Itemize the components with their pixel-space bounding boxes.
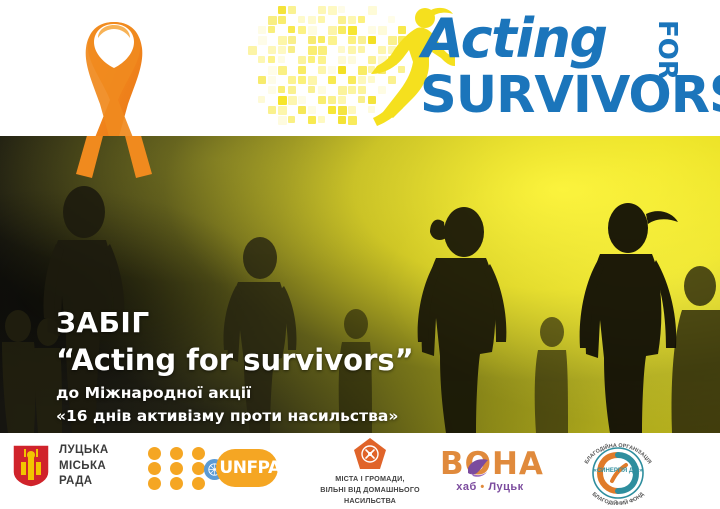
hero-photo: ЗАБІГ “Acting for survivors” до Міжнарод… bbox=[0, 136, 720, 433]
unfpa-label: UNFPA bbox=[213, 458, 280, 478]
logo-synergy-of-actions: БЛАГОДІЙНА ОРГАНІЗАЦІЯ БЛАГОДІЙНИЙ ФОНД … bbox=[572, 437, 664, 505]
lutsk-label: ЛУЦЬКА МІСЬКА РАДА bbox=[59, 443, 109, 490]
synergy-center-label: «СИНЕРГІЯ ДІЙ» bbox=[594, 466, 644, 474]
logo-vona-hub: ВОНА хаб • Луцьк bbox=[440, 449, 550, 493]
cities-label-line-3: НАСИЛЬСТВА bbox=[310, 496, 430, 507]
vona-label: ВОНА bbox=[440, 446, 544, 482]
event-subtitle-2: «16 днів активізму проти насильства» bbox=[56, 407, 656, 426]
footer-logos: ЛУЦЬКА МІСЬКА РАДА UNFPA bbox=[0, 433, 720, 509]
lutsk-label-line-3: РАДА bbox=[59, 474, 109, 490]
lutsk-label-line-1: ЛУЦЬКА bbox=[59, 443, 109, 459]
event-subtitle-1: до Міжнародної акції bbox=[56, 384, 656, 403]
ribbon-tails-icon bbox=[58, 136, 170, 192]
cities-label-line-2: ВІЛЬНІ ВІД ДОМАШНЬОГО bbox=[310, 485, 430, 496]
pentagon-house-icon bbox=[353, 437, 387, 470]
logo-lutsk-city-council: ЛУЦЬКА МІСЬКА РАДА bbox=[12, 443, 109, 490]
logo-line-acting: Acting bbox=[422, 12, 607, 66]
logo-cities-free-from-violence: МІСТА І ГРОМАДИ, ВІЛЬНІ ВІД ДОМАШНЬОГО Н… bbox=[310, 437, 430, 509]
cities-label: МІСТА І ГРОМАДИ, ВІЛЬНІ ВІД ДОМАШНЬОГО Н… bbox=[310, 474, 430, 506]
awareness-ribbon-icon bbox=[58, 8, 170, 136]
poster: Acting FOR SURVIVORS bbox=[0, 0, 720, 509]
page-title: ЗАБІГ bbox=[56, 308, 656, 337]
vona-sub-sep: • bbox=[480, 481, 484, 493]
logo-unfpa: UNFPA bbox=[148, 447, 278, 489]
vona-wordmark: ВОНА bbox=[440, 449, 550, 480]
vona-sub-label: хаб • Луцьк bbox=[440, 481, 540, 493]
acting-for-survivors-logo: Acting FOR SURVIVORS bbox=[420, 6, 716, 132]
unfpa-circle: UNFPA bbox=[216, 449, 278, 487]
event-title: “Acting for survivors” bbox=[56, 344, 656, 377]
cities-label-line-1: МІСТА І ГРОМАДИ, bbox=[310, 474, 430, 485]
vona-sub-right: Луцьк bbox=[488, 481, 523, 493]
logo-line-survivors: SURVIVORS bbox=[420, 70, 720, 121]
lutsk-coat-of-arms-icon bbox=[12, 444, 50, 488]
header-band: Acting FOR SURVIVORS bbox=[0, 0, 720, 136]
headline-block: ЗАБІГ “Acting for survivors” до Міжнарод… bbox=[56, 308, 656, 426]
lutsk-label-line-2: МІСЬКА bbox=[59, 459, 109, 475]
bird-hand-icon bbox=[466, 456, 491, 478]
synergy-swirl-icon: БЛАГОДІЙНА ОРГАНІЗАЦІЯ БЛАГОДІЙНИЙ ФОНД … bbox=[572, 437, 664, 505]
vona-sub-left: хаб bbox=[456, 481, 477, 493]
